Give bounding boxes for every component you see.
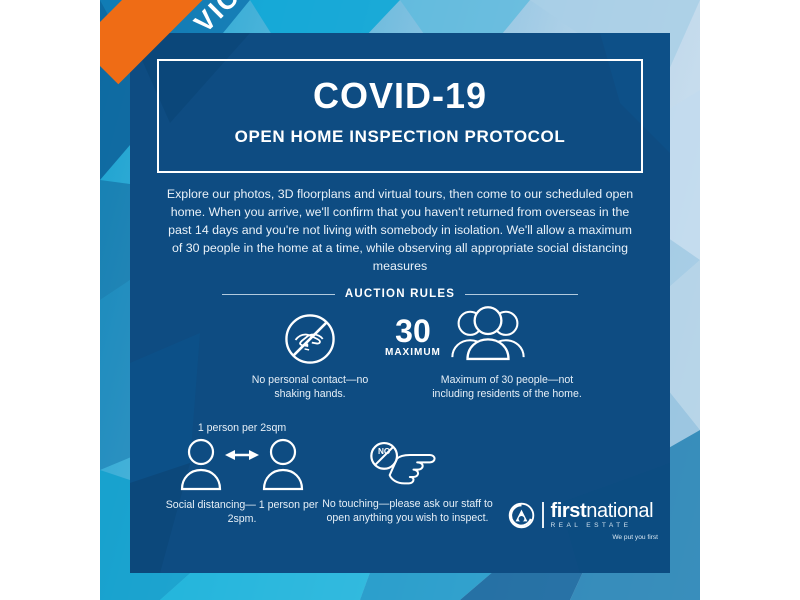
logo-name-second: national	[586, 500, 653, 522]
svg-text:NO: NO	[377, 447, 390, 456]
no-handshake-icon	[250, 310, 370, 368]
no-touching-hand-icon: NO	[320, 440, 495, 492]
rule-no-personal-contact: No personal contact—no shaking hands.	[250, 310, 370, 401]
rule-maximum-people: 30 MAXIMUM Maximum of 30 people—not incl…	[385, 305, 595, 401]
title-box: COVID-19 OPEN HOME INSPECTION PROTOCOL	[157, 59, 643, 173]
max-number-label: MAXIMUM	[385, 347, 441, 358]
group-of-people-icon	[447, 305, 529, 368]
logo-row: firstnational REAL ESTATE	[508, 501, 658, 529]
no-handshake-glyph	[281, 310, 339, 368]
logo-tagline: We put you first	[508, 534, 658, 541]
two-people-distance-icon	[158, 437, 326, 493]
logo-subtitle: REAL ESTATE	[551, 522, 654, 529]
max-row: 30 MAXIMUM	[385, 305, 595, 368]
first-national-logo[interactable]: firstnational REAL ESTATE We put you fir…	[508, 501, 658, 541]
two-people-distance-glyph	[179, 437, 305, 493]
divider-label: AUCTION RULES	[345, 288, 455, 300]
rule-caption: No personal contact—no shaking hands.	[250, 374, 370, 401]
page-subtitle: OPEN HOME INSPECTION PROTOCOL	[159, 127, 641, 147]
rule-no-touching: NO No touching—please ask our staff to o…	[320, 440, 495, 525]
page-title: COVID-19	[159, 75, 641, 117]
logo-name: firstnational	[551, 501, 654, 521]
divider-line-right	[465, 294, 578, 295]
distance-label: 1 person per 2sqm	[158, 422, 326, 435]
logo-name-first: first	[551, 500, 587, 522]
intro-paragraph: Explore our photos, 3D floorplans and vi…	[166, 185, 634, 275]
group-of-people-glyph	[447, 305, 529, 363]
rule-social-distancing: 1 person per 2sqm Social distancing— 1 p…	[158, 422, 326, 526]
logo-text: firstnational REAL ESTATE	[551, 501, 654, 529]
rule-caption: Maximum of 30 people—not including resid…	[419, 374, 595, 401]
max-number: 30	[385, 316, 441, 346]
protocol-card: COVID-19 OPEN HOME INSPECTION PROTOCOL E…	[130, 33, 670, 573]
auction-rules-divider: AUCTION RULES	[222, 286, 578, 302]
first-national-mark-icon	[508, 502, 535, 529]
divider-line-left	[222, 294, 335, 295]
max-number-block: 30 MAXIMUM	[385, 316, 441, 358]
rule-caption: No touching—please ask our staff to open…	[320, 498, 495, 525]
infographic-canvas: COVID-19 OPEN HOME INSPECTION PROTOCOL E…	[0, 0, 800, 600]
no-touching-hand-glyph: NO	[364, 440, 452, 492]
logo-divider-bar	[542, 502, 544, 528]
rule-caption: Social distancing— 1 person per 2spm.	[158, 499, 326, 526]
